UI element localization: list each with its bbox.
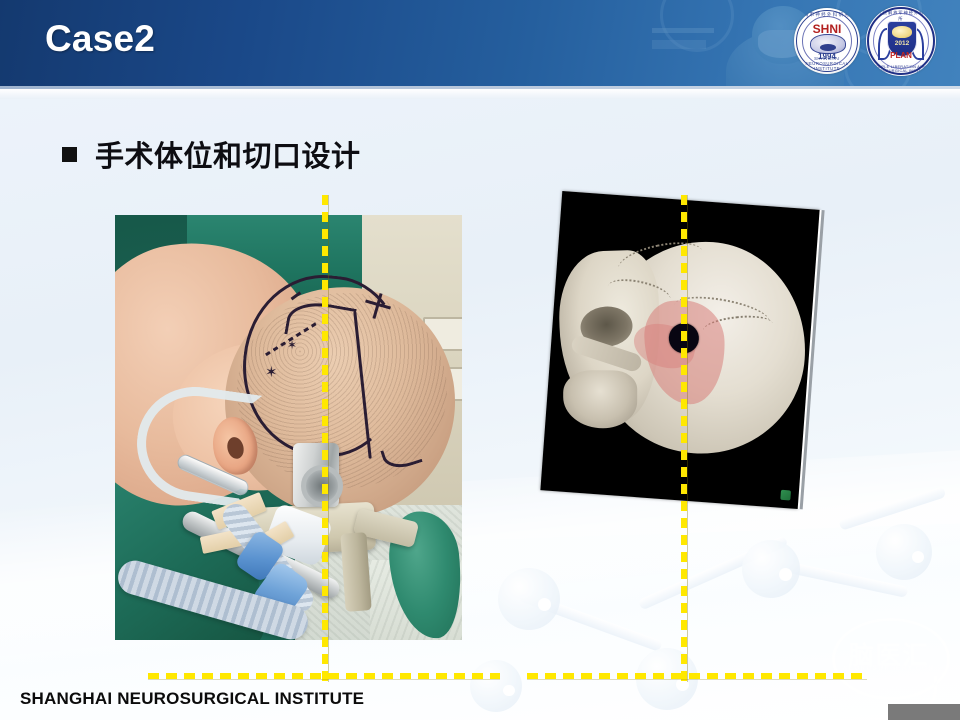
watermark-text-en: NEUROSURGERY.COM <box>826 666 952 672</box>
logo-shni-arc-en: SHANGHAI NEUROSURGICAL INSTITUTE <box>794 56 860 71</box>
intraoperative-photo: ✶ ✶ <box>115 215 462 640</box>
ct-image-frame <box>540 191 819 509</box>
watermark: 脑医汇 NEUROSURGERY.COM <box>826 614 952 718</box>
bullet-row: 手术体位和切口设计 <box>62 133 361 175</box>
incision-marking-star: ✶ <box>265 365 278 380</box>
logo-shni-arc-cn: 上海市神经外科研究所 <box>794 12 860 18</box>
skull-maxilla <box>563 370 637 428</box>
footer-corner-bar <box>888 704 960 720</box>
logo-pla-arc-en: PEOPLE LIBERATION ARMY NEUROSURGICAL INS… <box>866 65 936 73</box>
molecule-sphere <box>742 540 800 598</box>
bullet-text: 手术体位和切口设计 <box>95 133 361 175</box>
molecule-sphere <box>876 524 932 580</box>
ct-corner-logo <box>780 490 791 501</box>
presentation-slide: 脑医汇 NEUROSURGERY.COM Case2 上海市神经外科研究所 SH… <box>0 0 960 720</box>
header-bar-decor <box>652 40 706 49</box>
page-title: Case2 <box>45 18 155 60</box>
molecule-sphere <box>498 568 560 630</box>
footer-institute-name: SHANGHAI NEUROSURGICAL INSTITUTE <box>20 689 364 709</box>
molecule-sphere <box>636 648 698 710</box>
header-bar-decor <box>652 28 714 33</box>
horizontal-guide-left <box>148 673 500 679</box>
header-shine <box>0 89 960 99</box>
brain-icon <box>892 26 912 38</box>
molecule-sphere <box>470 660 522 712</box>
logo-pla-name: PLAN <box>866 51 936 60</box>
midline-guide-vertical-right <box>681 195 687 682</box>
head-holder-post <box>340 532 371 612</box>
logo-shni: 上海市神经外科研究所 SHNI 1994 SHANGHAI NEUROSURGI… <box>794 8 860 74</box>
incision-marking-star: ✶ <box>287 339 297 351</box>
horizontal-guide-right <box>527 673 867 679</box>
square-bullet-icon <box>62 147 77 162</box>
ct-3d-reconstruction <box>540 191 819 509</box>
logo-pla: 中国人民解放军神经外科研究所 2012 PLAN PEOPLE LIBERATI… <box>866 6 936 76</box>
brain-icon <box>810 34 846 54</box>
logo-pla-year: 2012 <box>888 40 916 47</box>
midline-guide-vertical-left <box>322 195 328 682</box>
